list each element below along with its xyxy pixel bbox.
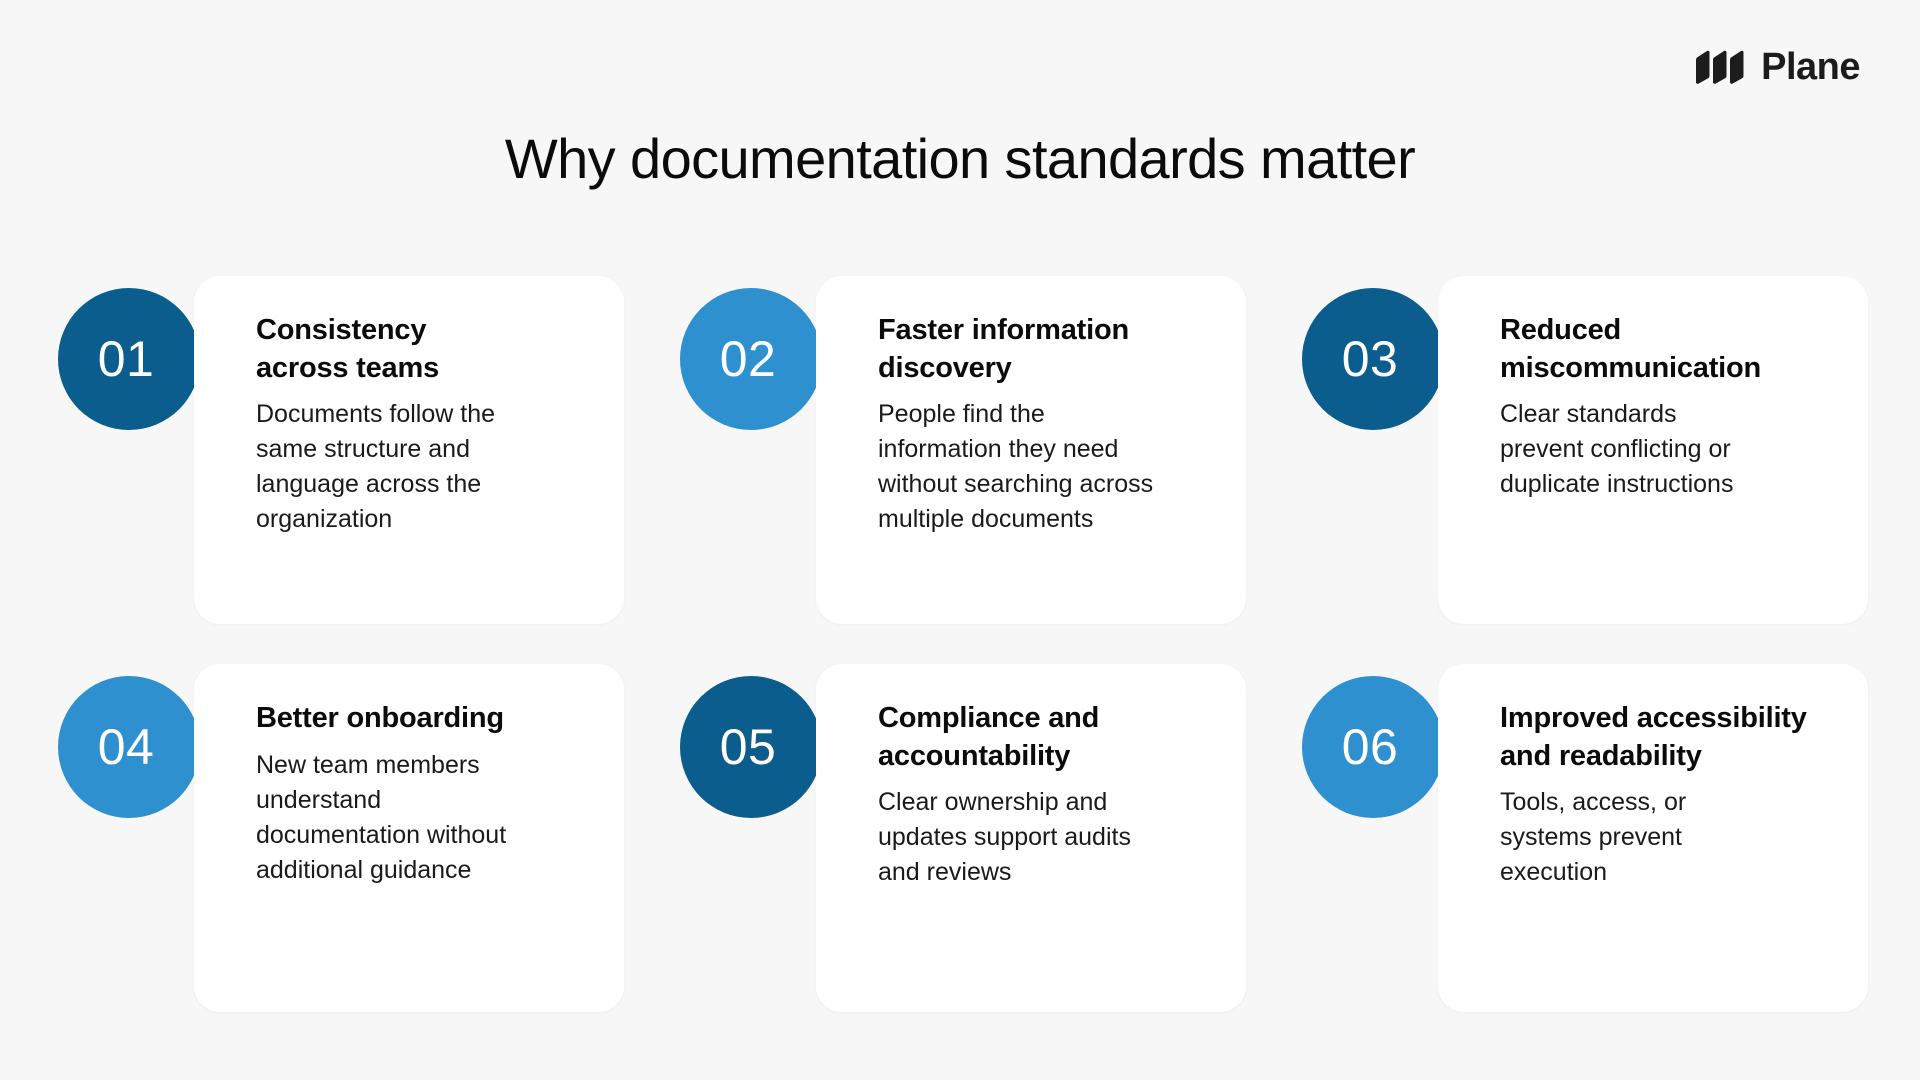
card-number: 04 (58, 676, 194, 818)
card-body: New team members understand documentatio… (256, 748, 536, 888)
card-body: Tools, access, or systems prevent execut… (1500, 785, 1730, 890)
card-number-badge: 03 (1302, 288, 1438, 430)
benefit-card: 03 Reduced miscommunication Clear standa… (1302, 276, 1868, 624)
benefit-card: 05 Compliance and accountability Clear o… (680, 664, 1246, 1012)
card-number-badge: 01 (58, 288, 194, 430)
benefit-card-grid: 01 Consistency across teams Documents fo… (58, 276, 1868, 1012)
card-heading: Consistency across teams (256, 312, 476, 387)
card-panel: Compliance and accountability Clear owne… (816, 664, 1246, 1012)
benefit-card: 06 Improved accessibility and readabilit… (1302, 664, 1868, 1012)
card-number: 03 (1302, 288, 1438, 430)
card-panel: Faster information discovery People find… (816, 276, 1246, 624)
card-panel: Improved accessibility and readability T… (1438, 664, 1868, 1012)
card-number-badge: 05 (680, 676, 816, 818)
card-panel: Better onboarding New team members under… (194, 664, 624, 1012)
card-heading: Improved accessibility and readability (1500, 700, 1820, 775)
card-body: Clear ownership and updates support audi… (878, 785, 1168, 890)
card-heading: Better onboarding (256, 700, 584, 738)
card-number: 05 (680, 676, 816, 818)
benefit-card: 01 Consistency across teams Documents fo… (58, 276, 624, 624)
benefit-card: 02 Faster information discovery People f… (680, 276, 1246, 624)
card-number: 06 (1302, 676, 1438, 818)
card-number: 02 (680, 288, 816, 430)
card-heading: Compliance and accountability (878, 700, 1148, 775)
card-number-badge: 02 (680, 288, 816, 430)
card-number: 01 (58, 288, 194, 430)
brand-name: Plane (1761, 48, 1860, 86)
card-heading: Faster information discovery (878, 312, 1158, 387)
card-panel: Consistency across teams Documents follo… (194, 276, 624, 624)
card-heading: Reduced miscommunication (1500, 312, 1770, 387)
benefit-card: 04 Better onboarding New team members un… (58, 664, 624, 1012)
card-number-badge: 04 (58, 676, 194, 818)
brand-logo: Plane (1695, 48, 1860, 86)
page-title: Why documentation standards matter (0, 128, 1920, 190)
card-body: People find the information they need wi… (878, 397, 1168, 537)
card-number-badge: 06 (1302, 676, 1438, 818)
plane-logo-mark-icon (1695, 49, 1747, 85)
card-panel: Reduced miscommunication Clear standards… (1438, 276, 1868, 624)
card-body: Documents follow the same structure and … (256, 397, 516, 537)
card-body: Clear standards prevent conflicting or d… (1500, 397, 1760, 502)
